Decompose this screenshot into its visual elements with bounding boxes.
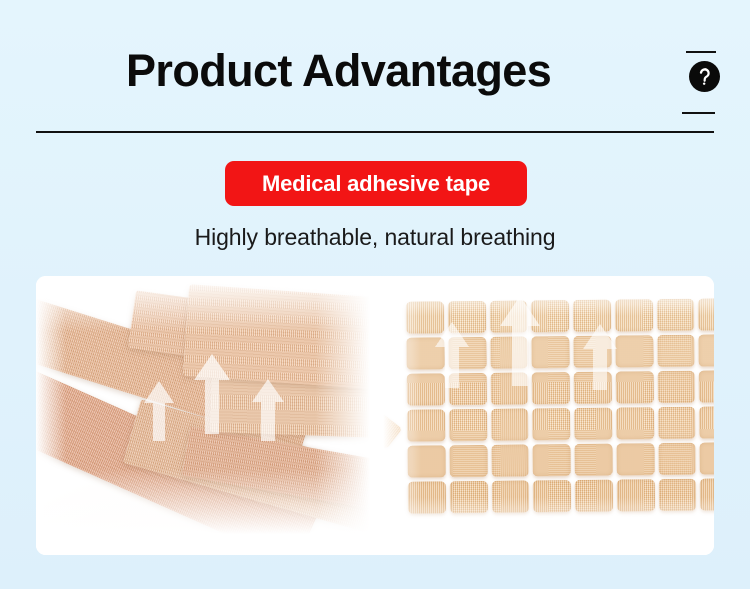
plaster-square: [658, 407, 696, 439]
status-badge-label: Medical adhesive tape: [262, 171, 490, 197]
plaster-square: [491, 480, 529, 512]
plaster-square: [490, 336, 528, 368]
tick-line-bottom: [682, 112, 715, 114]
plaster-square: [699, 406, 714, 438]
plaster-square: [616, 443, 654, 475]
plaster-square: [449, 409, 487, 441]
plaster-square: [575, 480, 613, 512]
plaster-square: [615, 299, 653, 331]
ear-badge-group: [684, 46, 718, 118]
plaster-square: [700, 478, 714, 510]
plaster-square: [699, 370, 714, 402]
plaster-square: [448, 301, 486, 333]
plaster-square: [698, 298, 714, 330]
plaster-square: [574, 372, 612, 404]
photo-folded-elastic-adhesive-tape: [36, 276, 375, 555]
plaster-square: [616, 407, 654, 439]
banner-header: Product Advantages: [0, 0, 750, 140]
plaster-square: [491, 408, 529, 440]
plaster-square: [573, 300, 611, 332]
status-badge: Medical adhesive tape: [225, 161, 527, 206]
product-advantages-banner: Product Advantages Medical adhesive tape…: [0, 0, 750, 589]
plaster-square: [408, 481, 446, 513]
loose-plaster-square: [375, 413, 402, 449]
photo-square-spot-plaster-sheet: [375, 276, 714, 555]
plaster-square: [489, 300, 527, 332]
ear-icon: [689, 61, 720, 92]
photo-gallery-panel: [36, 276, 714, 555]
plaster-square: [532, 372, 570, 404]
plaster-grid: [406, 298, 714, 513]
plaster-square: [407, 445, 445, 477]
plaster-square: [450, 481, 488, 513]
plaster-square: [617, 479, 655, 511]
tick-line-top: [686, 51, 716, 53]
plaster-square: [449, 445, 487, 477]
plaster-photo-stage: [375, 276, 714, 555]
plaster-square: [491, 444, 529, 476]
plaster-square: [532, 408, 570, 440]
plaster-square: [448, 373, 486, 405]
plaster-square: [615, 371, 653, 403]
plaster-square: [657, 371, 695, 403]
tape-photo-stage: [36, 276, 375, 555]
header-divider: [36, 131, 714, 133]
plaster-square: [406, 301, 444, 333]
plaster-square: [448, 337, 486, 369]
page-title: Product Advantages: [126, 44, 551, 98]
plaster-square: [533, 444, 571, 476]
plaster-square: [656, 299, 694, 331]
plaster-square: [700, 442, 714, 474]
plaster-square: [574, 408, 612, 440]
plaster-square: [406, 337, 444, 369]
plaster-square: [699, 334, 714, 366]
plaster-square: [531, 300, 569, 332]
plaster-square: [533, 480, 571, 512]
plaster-square: [657, 335, 695, 367]
subtitle: Highly breathable, natural breathing: [0, 224, 750, 251]
plaster-square: [615, 335, 653, 367]
plaster-square: [658, 479, 696, 511]
plaster-square: [532, 336, 570, 368]
plaster-square: [573, 336, 611, 368]
plaster-square: [490, 372, 528, 404]
plaster-square: [574, 444, 612, 476]
plaster-square: [407, 409, 445, 441]
plaster-square: [658, 443, 696, 475]
plaster-square: [407, 373, 445, 405]
